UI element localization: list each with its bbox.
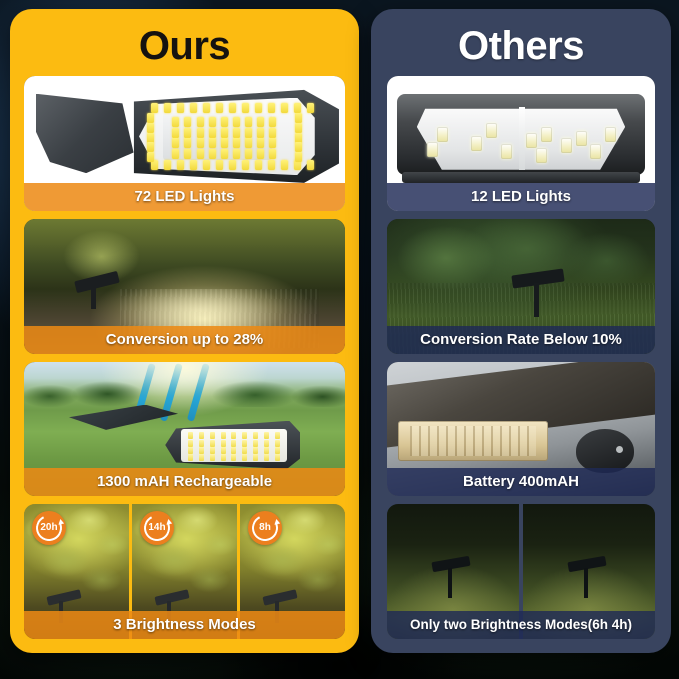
comparison-stage: Ours 72 LED Lights Conversion up to 28% [0,0,679,679]
panel-others-title: Others [371,9,671,76]
panel-ours-rows: 72 LED Lights Conversion up to 28% 1 [10,76,359,653]
panel-ours: Ours 72 LED Lights Conversion up to 28% [10,9,359,653]
led-head-icon [36,88,339,185]
refresh-clock-icon: 20h [32,511,66,545]
ours-caption-conversion: Conversion up to 28% [24,326,345,354]
refresh-clock-icon: 14h [140,511,174,545]
others-tile-modes[interactable]: Only two Brightness Modes(6h 4h) [387,504,655,639]
badge-label-8h: 8h [259,523,271,533]
refresh-clock-icon: 8h [248,511,282,545]
lamp-silhouette-icon [75,276,131,310]
ours-tile-modes[interactable]: 20h 14h [24,504,345,639]
ours-caption-modes: 3 Brightness Modes [24,611,345,639]
ours-tile-battery[interactable]: 1300 mAH Rechargeable [24,362,345,497]
badge-label-14h: 14h [148,523,165,533]
others-caption-led: 12 LED Lights [387,183,655,211]
others-caption-modes: Only two Brightness Modes(6h 4h) [387,611,655,639]
panel-others: Others 12 LED Lights Conversion Rate Bel… [371,9,671,653]
badge-label-20h: 20h [40,523,57,533]
panel-ours-title: Ours [10,9,359,76]
others-tile-conversion[interactable]: Conversion Rate Below 10% [387,219,655,354]
lamp-silhouette-icon [510,272,570,318]
others-caption-battery: Battery 400mAH [387,468,655,496]
others-tile-battery[interactable]: Battery 400mAH [387,362,655,497]
others-tile-led[interactable]: 12 LED Lights [387,76,655,211]
ours-caption-led: 72 LED Lights [24,183,345,211]
ours-tile-conversion[interactable]: Conversion up to 28% [24,219,345,354]
ours-caption-battery: 1300 mAH Rechargeable [24,468,345,496]
panel-others-rows: 12 LED Lights Conversion Rate Below 10% … [371,76,671,653]
others-caption-conversion: Conversion Rate Below 10% [387,326,655,354]
light-head-icon [165,421,300,470]
led-head-icon [397,90,645,183]
ours-tile-led[interactable]: 72 LED Lights [24,76,345,211]
